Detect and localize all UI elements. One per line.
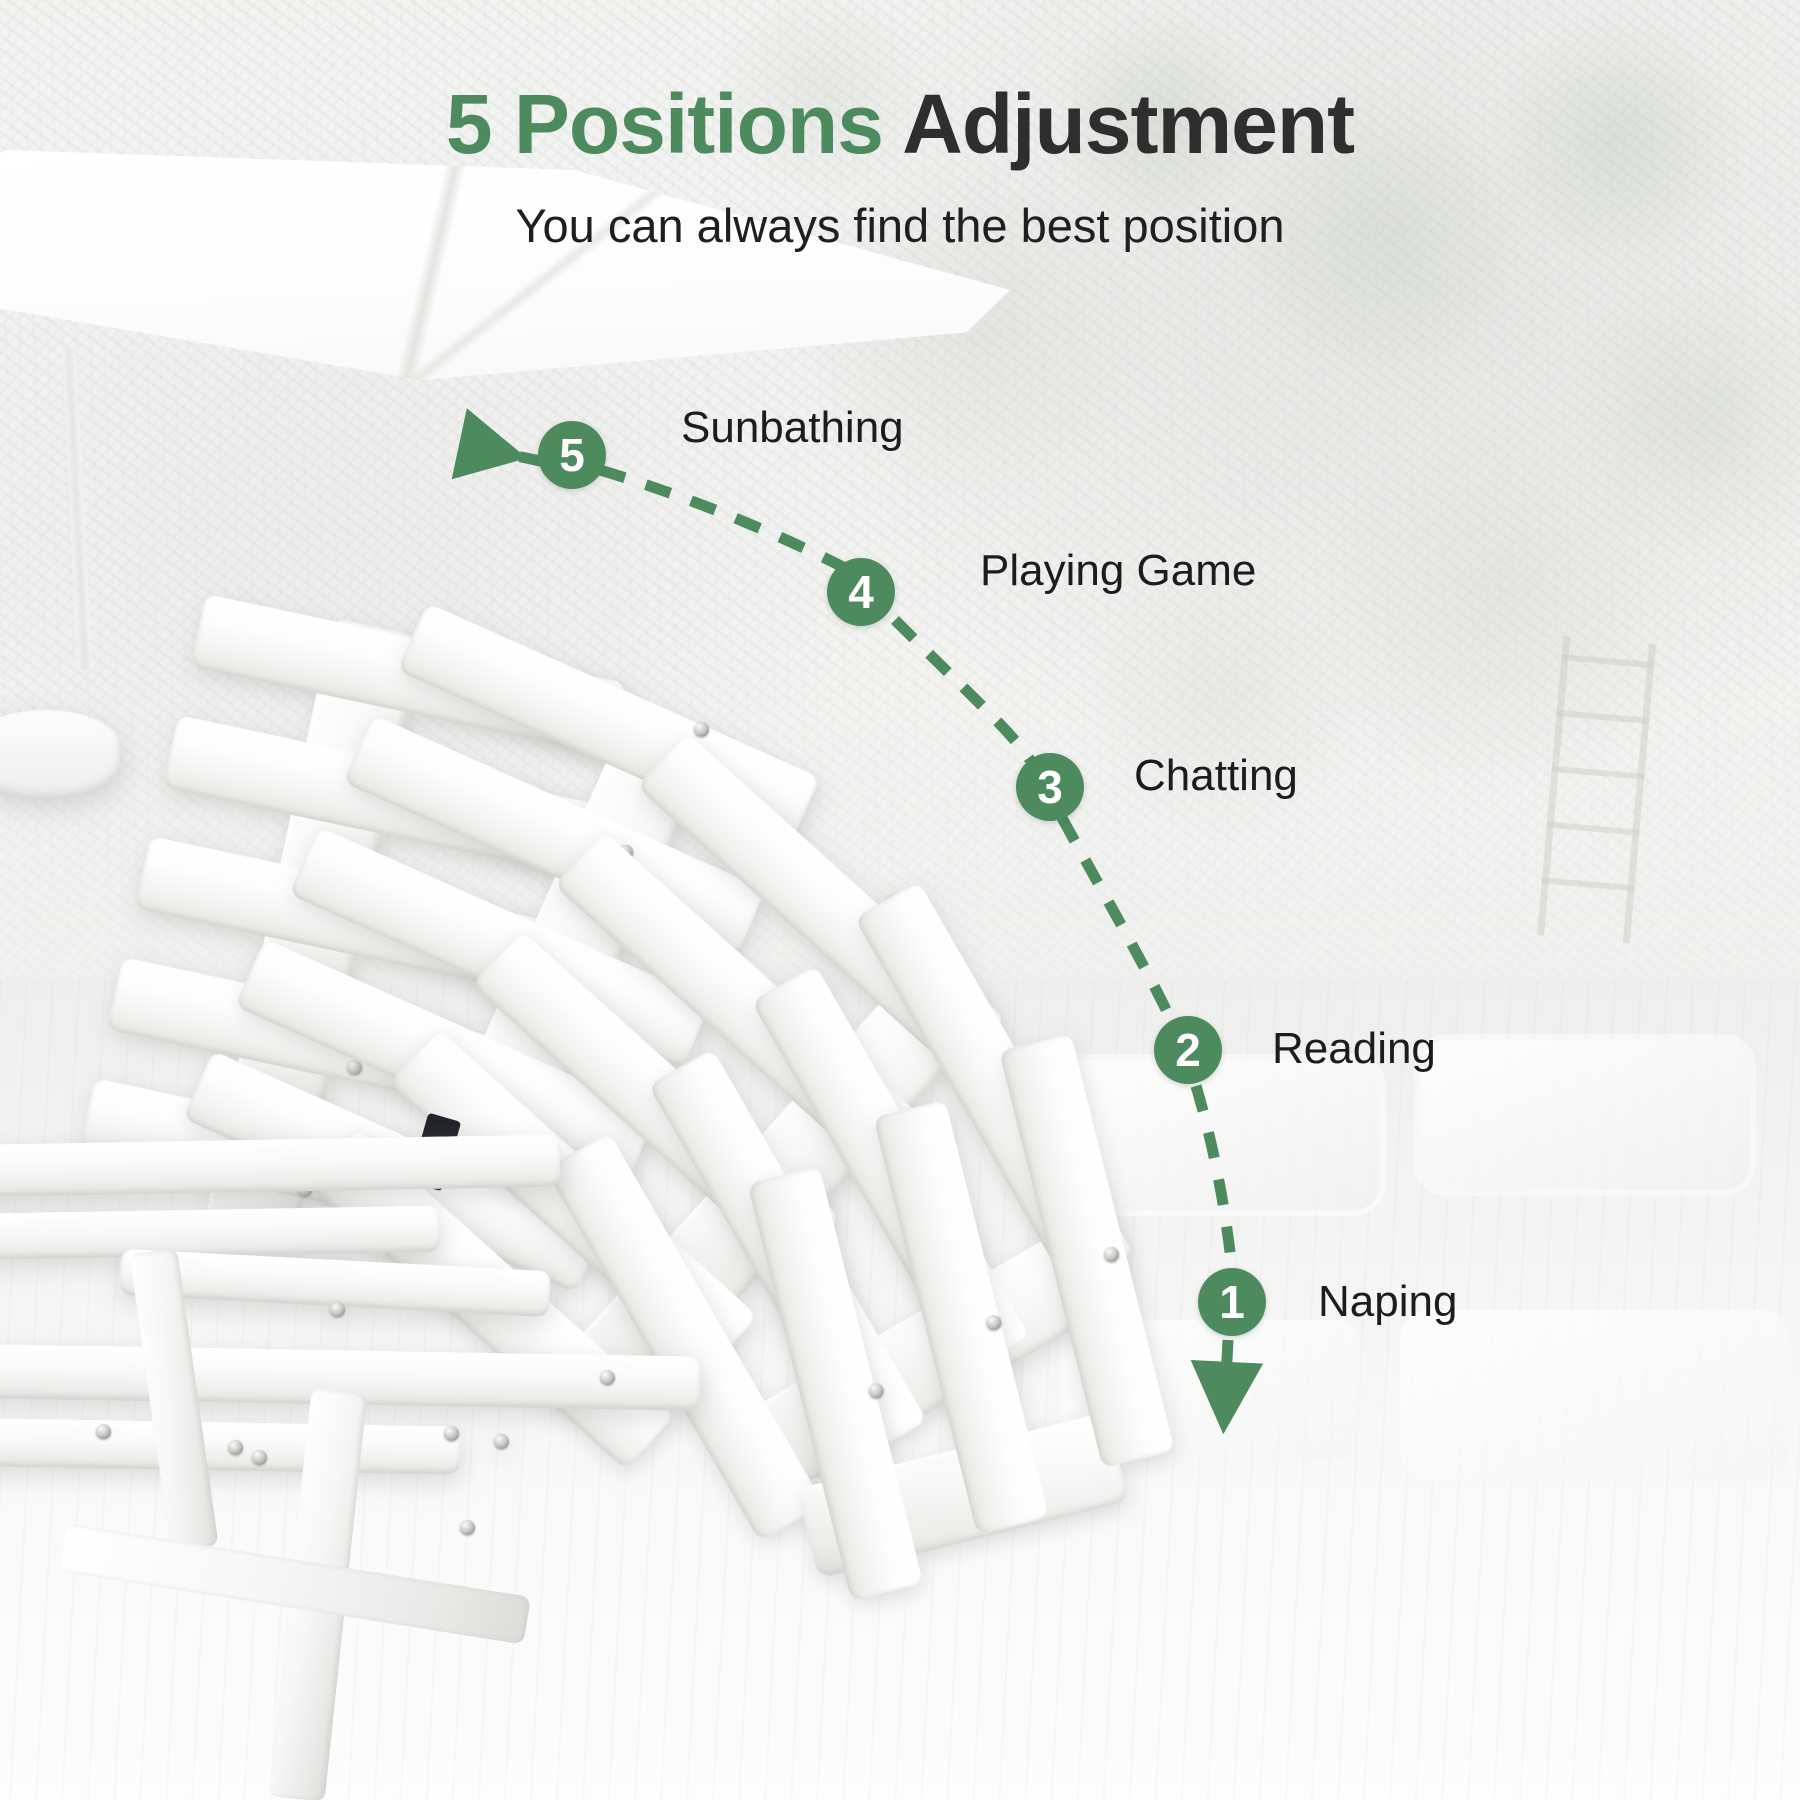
arc-arrow-top bbox=[470, 446, 545, 462]
step-badge-4[interactable]: 4 bbox=[827, 558, 895, 626]
arc-arrow-bottom bbox=[1224, 1340, 1228, 1420]
step-label-4: Playing Game bbox=[980, 549, 1256, 593]
step-badge-2[interactable]: 2 bbox=[1154, 1016, 1222, 1084]
step-badge-3[interactable]: 3 bbox=[1016, 753, 1084, 821]
infographic-canvas: 5 Positions Adjustment You can always fi… bbox=[0, 0, 1800, 1800]
step-badge-5[interactable]: 5 bbox=[538, 421, 606, 489]
step-label-1: Naping bbox=[1318, 1280, 1457, 1324]
position-arc-diagram bbox=[0, 0, 1800, 1800]
step-label-5: Sunbathing bbox=[681, 406, 904, 450]
step-label-3: Chatting bbox=[1134, 754, 1298, 798]
step-label-2: Reading bbox=[1272, 1027, 1436, 1071]
step-badge-1[interactable]: 1 bbox=[1198, 1268, 1266, 1336]
